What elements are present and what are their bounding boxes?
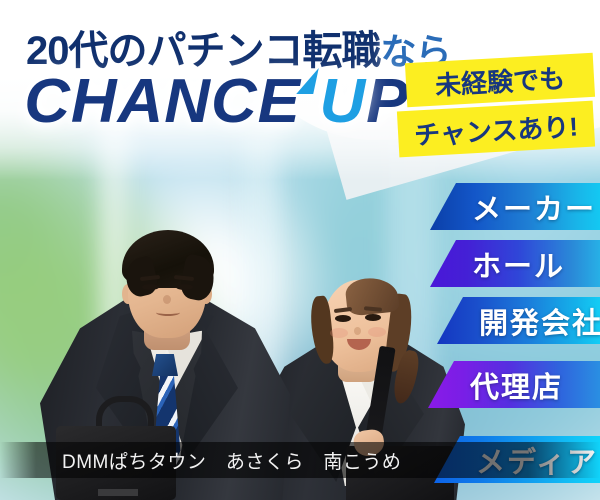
- woman-eye-right: [365, 314, 381, 321]
- ribbon-label-maker: メーカー: [472, 186, 596, 228]
- man-nose: [163, 295, 171, 304]
- ribbon-label-hall: ホール: [472, 243, 565, 285]
- status-badge: 未経験でも チャンスあり!: [398, 52, 594, 162]
- ribbon-item-hall[interactable]: ホール: [430, 240, 600, 287]
- man-necktie-knot: [152, 354, 178, 376]
- logo-chance: CHANCE: [24, 67, 301, 136]
- ribbon-label-developer: 開発会社: [479, 300, 600, 342]
- logo-u: U: [319, 67, 366, 136]
- badge-line-2: チャンスあり!: [397, 101, 595, 158]
- ribbon-label-agency: 代理店: [470, 364, 563, 406]
- recruitment-banner: 20代のパチンコ転職なら CHANCE UP 未経験でも チャンスあり! メーカ…: [0, 0, 600, 500]
- man-eye-right: [176, 284, 193, 290]
- ribbon-item-developer[interactable]: 開発会社: [437, 297, 600, 344]
- caption-bar: DMMぱちタウン あさくら 南こうめ: [0, 442, 600, 478]
- ribbon-item-agency[interactable]: 代理店: [428, 361, 600, 408]
- woman-cheek-right: [368, 327, 386, 337]
- man-mouth: [156, 309, 180, 316]
- man-briefcase-studs: [98, 489, 138, 496]
- caption-text: DMMぱちタウン あさくら 南こうめ: [62, 447, 401, 474]
- woman-eye-left: [335, 315, 351, 322]
- woman-cheek-left: [330, 328, 348, 338]
- man-eye-left: [142, 284, 159, 290]
- badge-line-1-label: 未経験でも: [434, 58, 566, 102]
- badge-line-1: 未経験でも: [405, 53, 595, 107]
- badge-line-2-label: チャンスあり!: [413, 106, 579, 152]
- brand-logo: CHANCE UP: [24, 66, 409, 137]
- ribbon-item-maker[interactable]: メーカー: [430, 183, 600, 230]
- woman-nose: [354, 327, 361, 335]
